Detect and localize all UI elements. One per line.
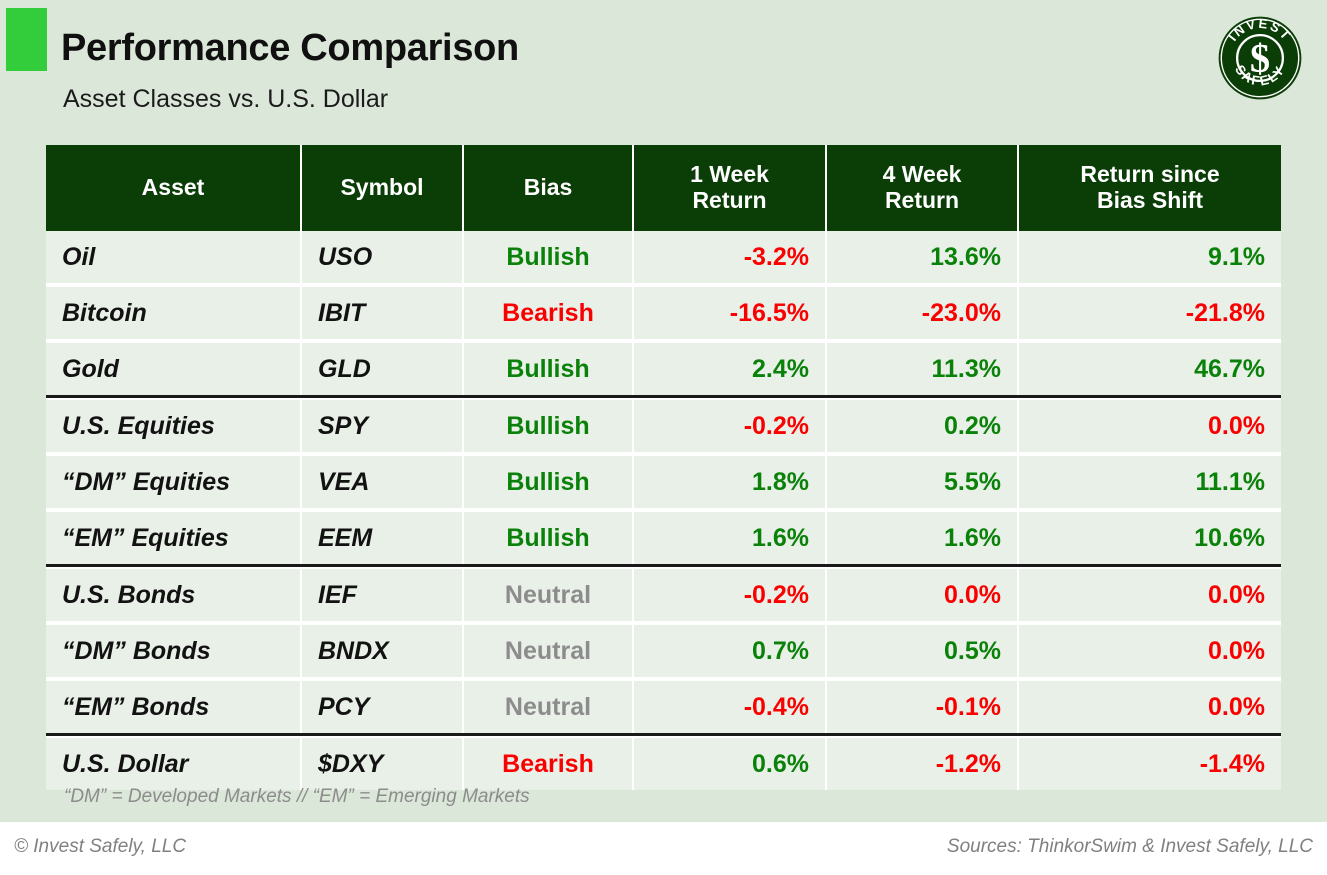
bias-badge: Bullish bbox=[464, 243, 632, 272]
bias-badge: Neutral bbox=[464, 637, 632, 666]
cell-return-since-bias-shift-value: 0.0% bbox=[1035, 581, 1265, 610]
cell-1-week-return: 1.6% bbox=[634, 512, 827, 564]
symbol-label: PCY bbox=[318, 693, 369, 722]
column-header-asset-label: Asset bbox=[142, 175, 205, 201]
cell-symbol: BNDX bbox=[302, 625, 464, 677]
asset-label: U.S. Equities bbox=[62, 412, 215, 441]
cell-1-week-return-value: 1.6% bbox=[650, 524, 809, 553]
cell-return-since-bias-shift: 0.0% bbox=[1019, 569, 1281, 621]
cell-4-week-return: 0.0% bbox=[827, 569, 1019, 621]
accent-bar bbox=[6, 8, 47, 71]
table-row: “DM” EquitiesVEABullish1.8%5.5%11.1% bbox=[46, 456, 1281, 508]
cell-4-week-return-value: 5.5% bbox=[843, 468, 1001, 497]
column-header-return-since-bias-shift-line2: Bias Shift bbox=[1097, 188, 1203, 214]
column-header-4-week-return: 4 Week Return bbox=[827, 145, 1019, 231]
cell-symbol: VEA bbox=[302, 456, 464, 508]
cell-bias: Bullish bbox=[464, 400, 634, 452]
slide-root: Performance Comparison Asset Classes vs.… bbox=[0, 0, 1327, 875]
cell-return-since-bias-shift: 0.0% bbox=[1019, 400, 1281, 452]
cell-bias: Bullish bbox=[464, 512, 634, 564]
cell-1-week-return-value: -0.4% bbox=[650, 693, 809, 722]
column-header-asset: Asset bbox=[46, 145, 302, 231]
cell-return-since-bias-shift-value: 11.1% bbox=[1035, 468, 1265, 497]
symbol-label: IBIT bbox=[318, 299, 365, 328]
column-header-4-week-return-line1: 4 Week bbox=[883, 162, 962, 188]
cell-1-week-return-value: -16.5% bbox=[650, 299, 809, 328]
bias-badge: Bullish bbox=[464, 355, 632, 384]
cell-asset: U.S. Bonds bbox=[46, 569, 302, 621]
symbol-label: IEF bbox=[318, 581, 357, 610]
bias-badge: Bullish bbox=[464, 412, 632, 441]
cell-1-week-return-value: -0.2% bbox=[650, 412, 809, 441]
column-header-return-since-bias-shift: Return since Bias Shift bbox=[1019, 145, 1281, 231]
cell-return-since-bias-shift-value: 46.7% bbox=[1035, 355, 1265, 384]
table-header-row: Asset Symbol Bias 1 Week Return 4 Week R… bbox=[46, 145, 1281, 231]
page-title: Performance Comparison bbox=[61, 27, 519, 70]
bias-badge: Bullish bbox=[464, 524, 632, 553]
cell-1-week-return-value: -3.2% bbox=[650, 243, 809, 272]
cell-return-since-bias-shift: -21.8% bbox=[1019, 287, 1281, 339]
cell-symbol: USO bbox=[302, 231, 464, 283]
cell-bias: Bearish bbox=[464, 287, 634, 339]
cell-bias: Neutral bbox=[464, 625, 634, 677]
cell-4-week-return: 0.2% bbox=[827, 400, 1019, 452]
cell-4-week-return-value: 13.6% bbox=[843, 243, 1001, 272]
cell-4-week-return: 11.3% bbox=[827, 343, 1019, 395]
asset-label: Oil bbox=[62, 243, 95, 272]
cell-1-week-return: -0.4% bbox=[634, 681, 827, 733]
cell-4-week-return-value: 11.3% bbox=[843, 355, 1001, 384]
bias-badge: Neutral bbox=[464, 693, 632, 722]
column-header-1-week-return-line2: Return bbox=[692, 188, 766, 214]
cell-4-week-return-value: 1.6% bbox=[843, 524, 1001, 553]
cell-4-week-return: 0.5% bbox=[827, 625, 1019, 677]
cell-bias: Bearish bbox=[464, 738, 634, 790]
bias-badge: Bearish bbox=[464, 299, 632, 328]
footer-sources: Sources: ThinkorSwim & Invest Safely, LL… bbox=[947, 836, 1313, 858]
cell-1-week-return: 1.8% bbox=[634, 456, 827, 508]
table-row: U.S. EquitiesSPYBullish-0.2%0.2%0.0% bbox=[46, 400, 1281, 452]
invest-safely-logo: INVEST SAFELY $ bbox=[1216, 14, 1304, 102]
column-header-bias: Bias bbox=[464, 145, 634, 231]
asset-label: “DM” Bonds bbox=[62, 637, 211, 666]
cell-4-week-return-value: 0.2% bbox=[843, 412, 1001, 441]
column-header-return-since-bias-shift-line1: Return since bbox=[1080, 162, 1219, 188]
column-header-symbol: Symbol bbox=[302, 145, 464, 231]
cell-1-week-return-value: 2.4% bbox=[650, 355, 809, 384]
performance-table: Asset Symbol Bias 1 Week Return 4 Week R… bbox=[46, 145, 1281, 790]
cell-return-since-bias-shift: -1.4% bbox=[1019, 738, 1281, 790]
cell-asset: Oil bbox=[46, 231, 302, 283]
cell-asset: “DM” Bonds bbox=[46, 625, 302, 677]
symbol-label: VEA bbox=[318, 468, 369, 497]
cell-return-since-bias-shift-value: 9.1% bbox=[1035, 243, 1265, 272]
cell-4-week-return-value: 0.0% bbox=[843, 581, 1001, 610]
cell-bias: Bullish bbox=[464, 231, 634, 283]
cell-asset: “EM” Bonds bbox=[46, 681, 302, 733]
symbol-label: GLD bbox=[318, 355, 371, 384]
symbol-label: EEM bbox=[318, 524, 372, 553]
column-header-bias-label: Bias bbox=[524, 175, 573, 201]
footer-bar: © Invest Safely, LLC Sources: ThinkorSwi… bbox=[0, 822, 1327, 875]
cell-4-week-return: -1.2% bbox=[827, 738, 1019, 790]
cell-4-week-return: 13.6% bbox=[827, 231, 1019, 283]
bias-badge: Neutral bbox=[464, 581, 632, 610]
table-row: BitcoinIBITBearish-16.5%-23.0%-21.8% bbox=[46, 287, 1281, 339]
table-row: U.S. BondsIEFNeutral-0.2%0.0%0.0% bbox=[46, 569, 1281, 621]
table-row: OilUSOBullish-3.2%13.6%9.1% bbox=[46, 231, 1281, 283]
table-row: “DM” BondsBNDXNeutral0.7%0.5%0.0% bbox=[46, 625, 1281, 677]
symbol-label: USO bbox=[318, 243, 372, 272]
cell-return-since-bias-shift: 10.6% bbox=[1019, 512, 1281, 564]
column-header-1-week-return-line1: 1 Week bbox=[690, 162, 769, 188]
asset-label: “EM” Bonds bbox=[62, 693, 209, 722]
column-header-1-week-return: 1 Week Return bbox=[634, 145, 827, 231]
cell-1-week-return: 0.6% bbox=[634, 738, 827, 790]
page-subtitle: Asset Classes vs. U.S. Dollar bbox=[63, 85, 388, 114]
asset-label: “EM” Equities bbox=[62, 524, 229, 553]
cell-asset: Gold bbox=[46, 343, 302, 395]
cell-1-week-return: -0.2% bbox=[634, 400, 827, 452]
cell-1-week-return-value: 0.6% bbox=[650, 750, 809, 779]
cell-symbol: IBIT bbox=[302, 287, 464, 339]
table-row: “EM” EquitiesEEMBullish1.6%1.6%10.6% bbox=[46, 512, 1281, 564]
cell-symbol: SPY bbox=[302, 400, 464, 452]
table-row: GoldGLDBullish2.4%11.3%46.7% bbox=[46, 343, 1281, 395]
symbol-label: SPY bbox=[318, 412, 368, 441]
table-row: “EM” BondsPCYNeutral-0.4%-0.1%0.0% bbox=[46, 681, 1281, 733]
cell-4-week-return-value: -1.2% bbox=[843, 750, 1001, 779]
cell-return-since-bias-shift-value: 0.0% bbox=[1035, 693, 1265, 722]
cell-1-week-return-value: 0.7% bbox=[650, 637, 809, 666]
cell-asset: Bitcoin bbox=[46, 287, 302, 339]
column-header-symbol-label: Symbol bbox=[340, 175, 423, 201]
cell-4-week-return-value: -23.0% bbox=[843, 299, 1001, 328]
bias-badge: Bearish bbox=[464, 750, 632, 779]
cell-symbol: GLD bbox=[302, 343, 464, 395]
cell-1-week-return: -0.2% bbox=[634, 569, 827, 621]
cell-4-week-return-value: -0.1% bbox=[843, 693, 1001, 722]
asset-label: U.S. Bonds bbox=[62, 581, 195, 610]
cell-4-week-return: 5.5% bbox=[827, 456, 1019, 508]
cell-return-since-bias-shift-value: -21.8% bbox=[1035, 299, 1265, 328]
cell-bias: Neutral bbox=[464, 681, 634, 733]
cell-4-week-return-value: 0.5% bbox=[843, 637, 1001, 666]
cell-1-week-return: 0.7% bbox=[634, 625, 827, 677]
cell-bias: Bullish bbox=[464, 343, 634, 395]
cell-1-week-return-value: -0.2% bbox=[650, 581, 809, 610]
cell-symbol: IEF bbox=[302, 569, 464, 621]
cell-1-week-return: 2.4% bbox=[634, 343, 827, 395]
cell-1-week-return-value: 1.8% bbox=[650, 468, 809, 497]
cell-return-since-bias-shift: 0.0% bbox=[1019, 681, 1281, 733]
cell-1-week-return: -16.5% bbox=[634, 287, 827, 339]
cell-symbol: PCY bbox=[302, 681, 464, 733]
table-footnote: “DM” = Developed Markets // “EM” = Emerg… bbox=[64, 786, 530, 808]
cell-bias: Neutral bbox=[464, 569, 634, 621]
cell-bias: Bullish bbox=[464, 456, 634, 508]
cell-return-since-bias-shift: 46.7% bbox=[1019, 343, 1281, 395]
cell-return-since-bias-shift-value: 0.0% bbox=[1035, 637, 1265, 666]
asset-label: Gold bbox=[62, 355, 119, 384]
footer-copyright: © Invest Safely, LLC bbox=[14, 836, 186, 858]
column-header-4-week-return-line2: Return bbox=[885, 188, 959, 214]
symbol-label: BNDX bbox=[318, 637, 389, 666]
cell-1-week-return: -3.2% bbox=[634, 231, 827, 283]
cell-symbol: $DXY bbox=[302, 738, 464, 790]
cell-asset: “DM” Equities bbox=[46, 456, 302, 508]
table-body: OilUSOBullish-3.2%13.6%9.1%BitcoinIBITBe… bbox=[46, 231, 1281, 790]
cell-return-since-bias-shift-value: 0.0% bbox=[1035, 412, 1265, 441]
cell-return-since-bias-shift: 0.0% bbox=[1019, 625, 1281, 677]
cell-asset: “EM” Equities bbox=[46, 512, 302, 564]
svg-text:$: $ bbox=[1250, 36, 1270, 81]
bias-badge: Bullish bbox=[464, 468, 632, 497]
cell-asset: U.S. Dollar bbox=[46, 738, 302, 790]
cell-4-week-return: -23.0% bbox=[827, 287, 1019, 339]
cell-return-since-bias-shift: 9.1% bbox=[1019, 231, 1281, 283]
cell-symbol: EEM bbox=[302, 512, 464, 564]
cell-4-week-return: -0.1% bbox=[827, 681, 1019, 733]
cell-return-since-bias-shift-value: -1.4% bbox=[1035, 750, 1265, 779]
table-row: U.S. Dollar$DXYBearish0.6%-1.2%-1.4% bbox=[46, 738, 1281, 790]
cell-return-since-bias-shift: 11.1% bbox=[1019, 456, 1281, 508]
symbol-label: $DXY bbox=[318, 750, 383, 779]
asset-label: Bitcoin bbox=[62, 299, 147, 328]
cell-return-since-bias-shift-value: 10.6% bbox=[1035, 524, 1265, 553]
cell-asset: U.S. Equities bbox=[46, 400, 302, 452]
asset-label: U.S. Dollar bbox=[62, 750, 188, 779]
cell-4-week-return: 1.6% bbox=[827, 512, 1019, 564]
asset-label: “DM” Equities bbox=[62, 468, 230, 497]
